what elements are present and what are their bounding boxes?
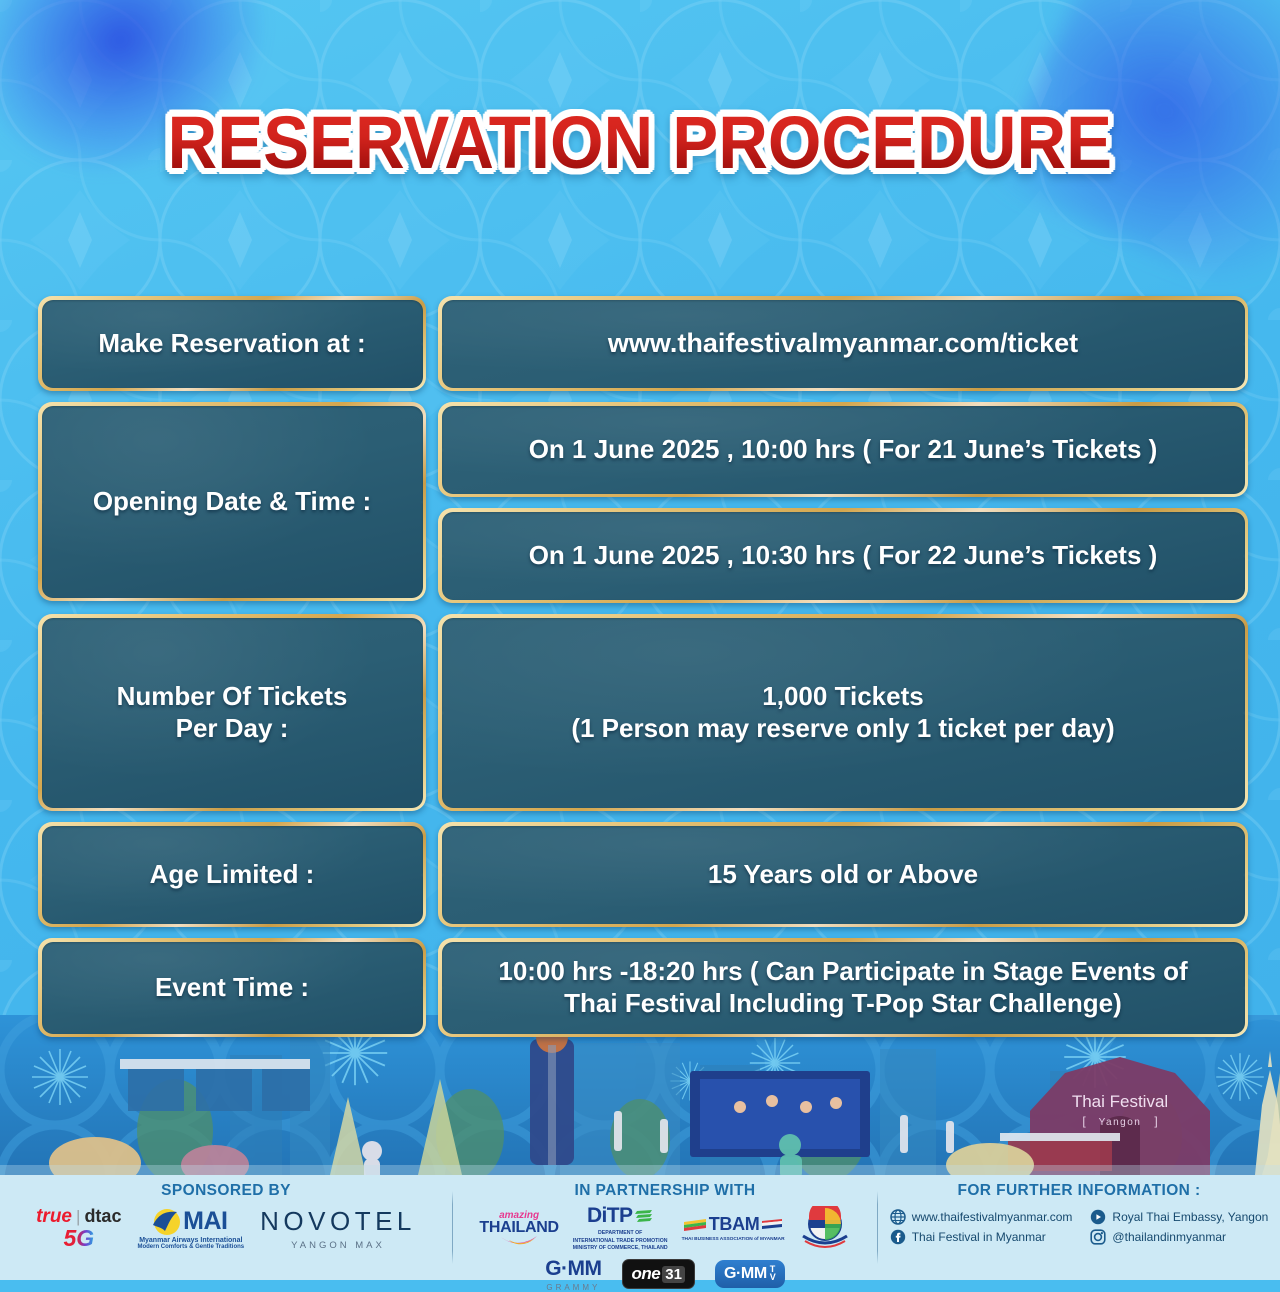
ditp-stripes-icon (635, 1209, 653, 1223)
row-label-cell: Make Reservation at : (38, 296, 426, 391)
thai-myanmar-emblem-icon (799, 1206, 851, 1250)
gmm-grammy-logo: G·MM GRAMMY (545, 1257, 601, 1292)
footer-bar: SPONSORED BY true | dtac 5G MAI (0, 1175, 1280, 1280)
facebook-text: Thai Festival in Myanmar (912, 1230, 1046, 1244)
event-time: 10:00 hrs -18:20 hrs ( Can Participate i… (484, 950, 1201, 1025)
true-dtac-logo: true | dtac 5G (36, 1207, 121, 1250)
grammy-word: GRAMMY (546, 1283, 600, 1292)
label-panel: Event Time : (38, 938, 426, 1037)
5g-badge: 5G (63, 1227, 94, 1250)
row-value-cell: 10:00 hrs -18:20 hrs ( Can Participate i… (438, 938, 1248, 1037)
tbam-subtitle: THAI BUSINESS ASSOCIATION of MYANMAR (682, 1237, 785, 1242)
contact-instagram[interactable]: @thailandinmyanmar (1090, 1229, 1268, 1245)
partnership-section: IN PARTNERSHIP WITH amazing THAILAND DiT… (453, 1175, 877, 1280)
partnership-heading: IN PARTNERSHIP WITH (575, 1182, 756, 1200)
label-panel: Opening Date & Time : (38, 402, 426, 601)
myanmar-ribbon-icon (684, 1219, 706, 1231)
label-text: Age Limited : (136, 853, 329, 897)
label-text: Event Time : (141, 966, 323, 1010)
dtac-wordmark: dtac (84, 1207, 121, 1225)
page-title: RESERVATION PROCEDURE (168, 104, 1113, 182)
true-wordmark: true (36, 1207, 72, 1226)
thai-ribbon-icon (762, 1219, 782, 1230)
label-panel: Make Reservation at : (38, 296, 426, 391)
mai-tagline-1: Myanmar Airways International (139, 1237, 242, 1244)
row-value-cell: 15 Years old or Above (438, 822, 1248, 927)
novotel-wordmark: NOVOTEL (260, 1206, 416, 1237)
mai-bird-icon (151, 1209, 179, 1235)
value-panel: On 1 June 2025 , 10:00 hrs ( For 21 June… (438, 402, 1248, 497)
gmm-tv-logo: G·MM T V (715, 1260, 785, 1288)
one-wordmark: one (632, 1264, 661, 1284)
row-label-cell: Opening Date & Time : (38, 402, 426, 603)
row-value-cell: www.thaifestivalmyanmar.com/ticket (438, 296, 1248, 391)
table-row: Make Reservation at : www.thaifestivalmy… (38, 296, 1248, 391)
novotel-logo: NOVOTEL YANGON MAX (260, 1206, 416, 1251)
sponsor-logos: true | dtac 5G MAI Myanmar Airways Inter… (36, 1206, 416, 1251)
value-panel: 10:00 hrs -18:20 hrs ( Can Participate i… (438, 938, 1248, 1037)
tbam-wordmark: TBAM (709, 1214, 760, 1235)
label-text: Opening Date & Time : (79, 480, 385, 524)
arch-subtitle: Yangon (1099, 1117, 1142, 1128)
gmmtv-wordmark: G·MM (724, 1265, 767, 1283)
table-row: Opening Date & Time : On 1 June 2025 , 1… (38, 402, 1248, 603)
globe-icon (890, 1209, 906, 1225)
tbam-logo: TBAM THAI BUSINESS ASSOCIATION of MYANMA… (682, 1214, 785, 1242)
label-panel: Age Limited : (38, 822, 426, 927)
mai-tagline-2: Modern Comforts & Gentle Traditions (137, 1244, 244, 1250)
table-row: Age Limited : 15 Years old or Above (38, 822, 1248, 927)
contact-youtube[interactable]: Royal Thai Embassy, Yangon (1090, 1209, 1268, 1225)
row-value-cell: On 1 June 2025 , 10:00 hrs ( For 21 June… (438, 402, 1248, 603)
one31-number: 31 (662, 1266, 685, 1283)
table-row: Event Time : 10:00 hrs -18:20 hrs ( Can … (38, 938, 1248, 1037)
partner-logos-row-1: amazing THAILAND DiTP DEPARTMENT OF INTE (479, 1204, 850, 1253)
row-label-cell: Event Time : (38, 938, 426, 1037)
value-panel: 1,000 Tickets (1 Person may reserve only… (438, 614, 1248, 811)
tickets-per-day: 1,000 Tickets (1 Person may reserve only… (557, 675, 1128, 750)
reservation-url[interactable]: www.thaifestivalmyanmar.com/ticket (594, 321, 1092, 366)
row-label-cell: Number Of Tickets Per Day : (38, 614, 426, 811)
opening-time-21june: On 1 June 2025 , 10:00 hrs ( For 21 June… (515, 428, 1172, 472)
facebook-icon (890, 1229, 906, 1245)
one31-logo: one 31 (622, 1259, 695, 1289)
novotel-property: YANGON MAX (291, 1240, 385, 1251)
contact-website[interactable]: www.thaifestivalmyanmar.com (890, 1209, 1073, 1225)
gmmtv-v: V (770, 1274, 776, 1282)
value-panel: 15 Years old or Above (438, 822, 1248, 927)
value-panel: On 1 June 2025 , 10:30 hrs ( For 22 June… (438, 508, 1248, 603)
label-text: Make Reservation at : (84, 322, 379, 366)
reservation-details-table: Make Reservation at : www.thaifestivalmy… (38, 296, 1248, 1048)
title-area: RESERVATION PROCEDURE (0, 104, 1280, 194)
contact-facebook[interactable]: Thai Festival in Myanmar (890, 1229, 1073, 1245)
true-divider: | (76, 1208, 80, 1225)
opening-time-22june: On 1 June 2025 , 10:30 hrs ( For 22 June… (515, 534, 1172, 578)
row-value-cell: 1,000 Tickets (1 Person may reserve only… (438, 614, 1248, 811)
amazing-swoosh-icon (499, 1235, 539, 1245)
information-section: FOR FURTHER INFORMATION : www.thaifestiv… (878, 1175, 1280, 1280)
instagram-icon (1090, 1229, 1106, 1245)
mai-wordmark: MAI (183, 1207, 227, 1236)
amazing-thailand-logo: amazing THAILAND (479, 1211, 558, 1245)
arch-bracket-right: ] (1154, 1114, 1157, 1128)
information-heading: FOR FURTHER INFORMATION : (957, 1182, 1200, 1200)
table-row: Number Of Tickets Per Day : 1,000 Ticket… (38, 614, 1248, 811)
arch-title: Thai Festival (1072, 1092, 1168, 1111)
age-limit: 15 Years old or Above (694, 853, 992, 897)
website-text: www.thaifestivalmyanmar.com (912, 1210, 1073, 1224)
youtube-icon (1090, 1209, 1106, 1225)
label-text: Number Of Tickets Per Day : (103, 675, 362, 750)
thailand-word: THAILAND (479, 1220, 558, 1236)
sponsored-heading: SPONSORED BY (161, 1182, 291, 1200)
contact-list: www.thaifestivalmyanmar.com Royal Thai E… (890, 1209, 1269, 1245)
mai-sun-icon (154, 1209, 180, 1235)
sponsored-section: SPONSORED BY true | dtac 5G MAI (0, 1175, 452, 1280)
row-label-cell: Age Limited : (38, 822, 426, 927)
instagram-text: @thailandinmyanmar (1112, 1230, 1226, 1244)
gmm-wordmark: G·MM (545, 1257, 601, 1281)
value-panel: www.thaifestivalmyanmar.com/ticket (438, 296, 1248, 391)
ditp-logo: DiTP DEPARTMENT OF INTERNATIONAL TRADE P… (573, 1204, 668, 1253)
mai-logo: MAI Myanmar Airways International Modern… (137, 1207, 244, 1250)
ditp-subtitle: DEPARTMENT OF INTERNATIONAL TRADE PROMOT… (573, 1230, 668, 1253)
label-panel: Number Of Tickets Per Day : (38, 614, 426, 811)
partner-logos-row-2: G·MM GRAMMY one 31 G·MM T V (545, 1257, 785, 1292)
youtube-text: Royal Thai Embassy, Yangon (1112, 1210, 1268, 1224)
ditp-wordmark: DiTP (587, 1204, 632, 1228)
